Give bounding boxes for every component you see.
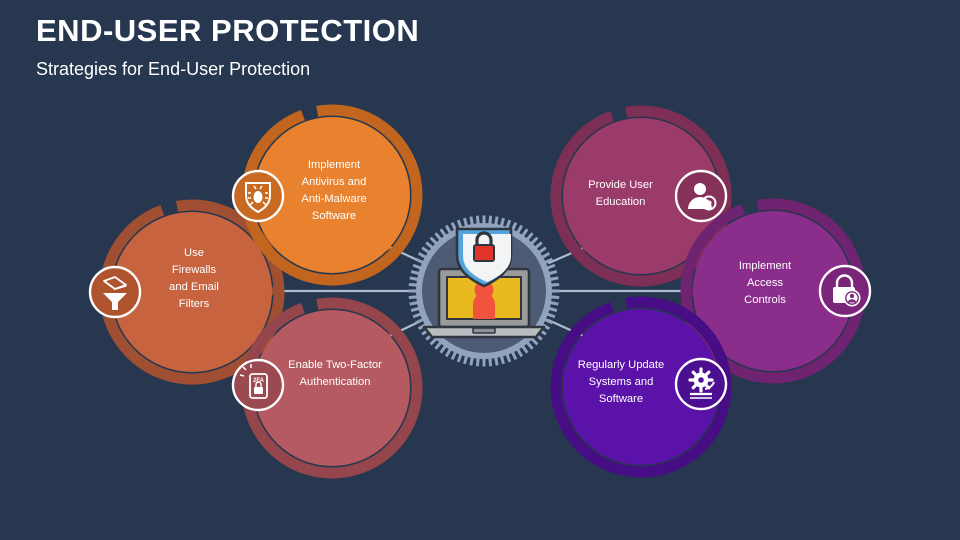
node-badge-enable-two-factor-authentication[interactable]: 2FA bbox=[233, 360, 283, 410]
node-badge-implement-antivirus-and-anti-malware-software[interactable] bbox=[233, 171, 283, 221]
end-user-protection-hub bbox=[409, 216, 560, 367]
diagram-graphics: 2FA bbox=[0, 0, 960, 540]
node-badge-use-firewalls-and-email-filters[interactable] bbox=[90, 267, 140, 317]
hub-layer bbox=[409, 216, 560, 367]
svg-text:2FA: 2FA bbox=[253, 378, 265, 384]
slide-canvas: END-USER PROTECTION Strategies for End-U… bbox=[0, 0, 960, 540]
node-badge-provide-user-education[interactable] bbox=[676, 171, 726, 221]
node-badge-regularly-update-systems-and-software[interactable] bbox=[676, 359, 726, 409]
node-badge-implement-access-controls[interactable] bbox=[820, 266, 870, 316]
